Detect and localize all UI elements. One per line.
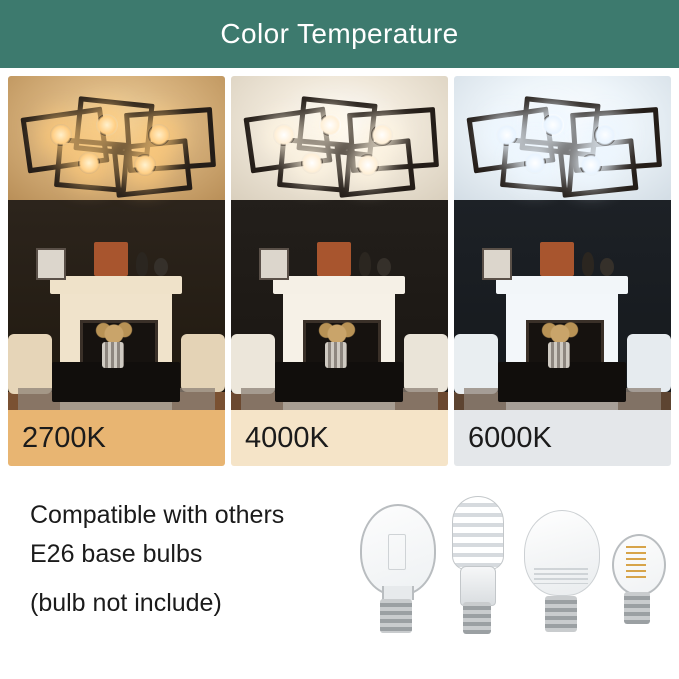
lamp-bulb bbox=[580, 154, 602, 176]
lamp-bulb bbox=[371, 124, 393, 146]
compat-line-3: (bulb not include) bbox=[30, 584, 370, 623]
led-frosted-bulb-icon bbox=[520, 510, 602, 636]
caption-4000k: 4000K bbox=[231, 410, 448, 466]
ceiling-lamp-4000k bbox=[245, 94, 435, 199]
bulb-filament bbox=[626, 546, 646, 580]
coffee-table bbox=[498, 362, 626, 402]
caption-label: 6000K bbox=[468, 422, 552, 455]
lamp-bulb bbox=[319, 114, 341, 136]
incandescent-a19-bulb-icon bbox=[356, 504, 436, 634]
lamp-bulb bbox=[357, 154, 379, 176]
scene-4000k bbox=[231, 76, 448, 410]
compat-line-2: E26 base bulbs bbox=[30, 535, 370, 574]
shelf-picture-frame bbox=[259, 248, 289, 280]
sofa-left bbox=[231, 334, 275, 394]
shelf-vase-a bbox=[359, 252, 371, 276]
sofa-right bbox=[627, 334, 671, 392]
ceiling-lamp-6000k bbox=[468, 94, 658, 199]
header-banner: Color Temperature bbox=[0, 0, 679, 68]
lamp-bulb bbox=[96, 114, 118, 136]
lamp-bulb bbox=[524, 152, 546, 174]
lamp-bulb bbox=[134, 154, 156, 176]
fireplace-mantel bbox=[496, 276, 628, 294]
panel-2700k: 2700K bbox=[8, 76, 225, 466]
shelf-vase-a bbox=[136, 252, 148, 276]
shelf-art-panel bbox=[94, 242, 128, 276]
coffee-table bbox=[275, 362, 403, 402]
shelf-vase-a bbox=[582, 252, 594, 276]
caption-label: 4000K bbox=[245, 422, 329, 455]
panel-6000k: 6000K bbox=[454, 76, 671, 466]
bulb-filament bbox=[388, 534, 406, 570]
shelf-picture-frame bbox=[36, 248, 66, 280]
shelf-vase-b bbox=[154, 258, 168, 276]
bulb-e26-base bbox=[624, 592, 650, 624]
caption-2700k: 2700K bbox=[8, 410, 225, 466]
caption-6000k: 6000K bbox=[454, 410, 671, 466]
compat-line-1: Compatible with others bbox=[30, 496, 370, 535]
striped-vase bbox=[325, 342, 347, 368]
striped-vase bbox=[548, 342, 570, 368]
lamp-bulb bbox=[301, 152, 323, 174]
lamp-bulb bbox=[496, 124, 518, 146]
panel-4000k: 4000K bbox=[231, 76, 448, 466]
bulb-e26-base bbox=[380, 599, 412, 633]
bulb-e26-base bbox=[545, 596, 577, 632]
bulb-printed-text bbox=[534, 568, 588, 584]
cfl-spiral-tube bbox=[452, 496, 504, 570]
filament-globe-bulb-icon bbox=[608, 534, 666, 638]
fireplace-mantel bbox=[273, 276, 405, 294]
cfl-spiral-bulb-icon bbox=[442, 496, 512, 638]
sofa-right bbox=[181, 334, 225, 392]
shelf-vase-b bbox=[600, 258, 614, 276]
scene-6000k bbox=[454, 76, 671, 410]
sofa-left bbox=[454, 334, 498, 394]
sofa-right bbox=[404, 334, 448, 392]
lamp-bulb bbox=[594, 124, 616, 146]
lamp-bulb bbox=[273, 124, 295, 146]
coffee-table bbox=[52, 362, 180, 402]
lamp-bulb bbox=[148, 124, 170, 146]
bulb-e26-base bbox=[463, 602, 491, 634]
shelf-picture-frame bbox=[482, 248, 512, 280]
shelf-art-panel bbox=[317, 242, 351, 276]
compatibility-text: Compatible with others E26 base bulbs (b… bbox=[30, 496, 370, 623]
fireplace-mantel bbox=[50, 276, 182, 294]
color-temperature-panels: 2700K bbox=[8, 76, 671, 466]
lamp-bulb bbox=[78, 152, 100, 174]
compatibility-section: Compatible with others E26 base bulbs (b… bbox=[0, 480, 679, 679]
bulb-illustrations bbox=[350, 490, 670, 670]
ceiling-lamp-2700k bbox=[22, 94, 212, 199]
page-title: Color Temperature bbox=[220, 18, 458, 50]
lamp-bulb bbox=[542, 114, 564, 136]
scene-2700k bbox=[8, 76, 225, 410]
bulb-neck bbox=[382, 586, 414, 600]
shelf-vase-b bbox=[377, 258, 391, 276]
sofa-left bbox=[8, 334, 52, 394]
lamp-bulb bbox=[50, 124, 72, 146]
cfl-body bbox=[460, 566, 496, 606]
shelf-art-panel bbox=[540, 242, 574, 276]
caption-label: 2700K bbox=[22, 422, 106, 455]
product-infographic: Color Temperature bbox=[0, 0, 679, 679]
striped-vase bbox=[102, 342, 124, 368]
